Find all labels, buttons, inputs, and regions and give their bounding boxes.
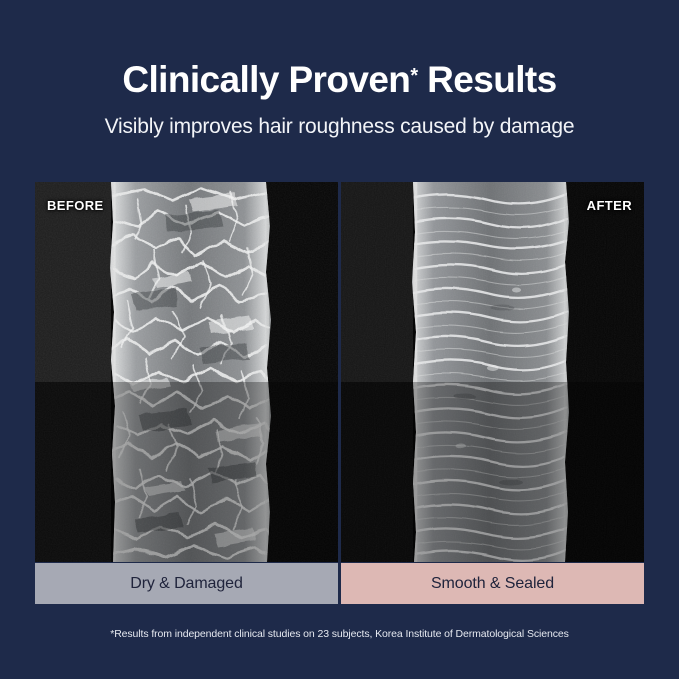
before-caption: Dry & Damaged <box>35 563 338 604</box>
after-badge: AFTER <box>587 198 632 213</box>
after-image-panel: AFTER <box>341 182 644 562</box>
asterisk-marker: * <box>410 65 417 87</box>
header: Clinically Proven* Results Visibly impro… <box>0 0 679 139</box>
before-after-comparison: BEFORE <box>35 182 644 562</box>
page-subtitle: Visibly improves hair roughness caused b… <box>0 115 679 139</box>
promo-graphic: Clinically Proven* Results Visibly impro… <box>0 0 679 679</box>
after-caption: Smooth & Sealed <box>341 563 644 604</box>
before-badge: BEFORE <box>47 198 104 213</box>
before-sem-micrograph <box>35 182 338 562</box>
page-title-tail: Results <box>418 59 557 100</box>
footnote-disclaimer: *Results from independent clinical studi… <box>0 628 679 640</box>
caption-bar-row: Dry & Damaged Smooth & Sealed <box>35 563 644 604</box>
after-sem-micrograph <box>341 182 644 562</box>
before-image-panel: BEFORE <box>35 182 338 562</box>
page-title-main: Clinically Proven <box>122 59 410 100</box>
page-title: Clinically Proven* Results <box>0 60 679 101</box>
